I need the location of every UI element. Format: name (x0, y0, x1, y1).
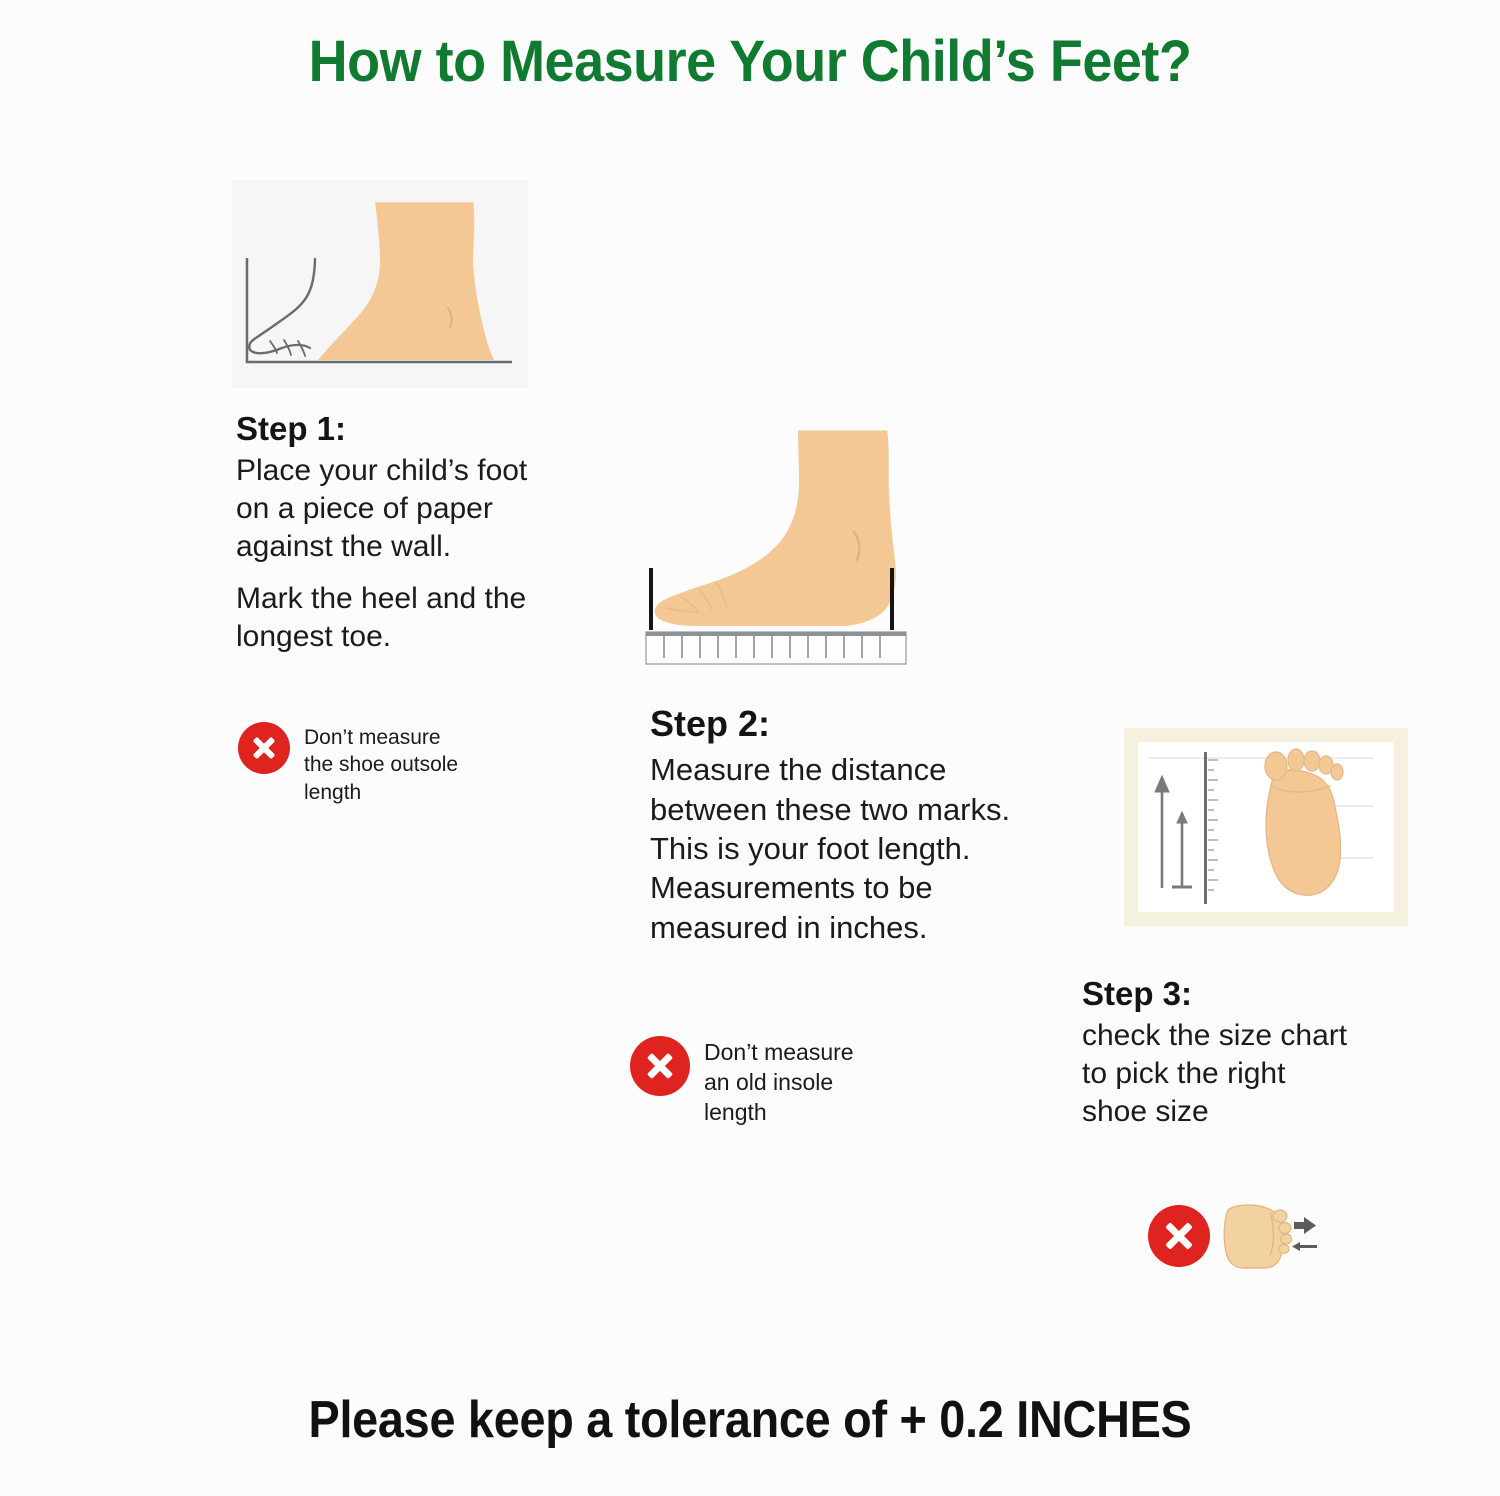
ruler-icon (646, 632, 906, 664)
step3-heading: Step 3: (1082, 975, 1422, 1013)
toe-measurement-mark (649, 568, 653, 630)
step1-heading: Step 1: (236, 410, 566, 448)
step1-body-line: Mark the heel and the (236, 580, 566, 618)
page-title: How to Measure Your Child’s Feet? (53, 28, 1448, 95)
right-arrow-icon (1294, 1217, 1316, 1234)
step1-body-line: against the wall. (236, 528, 566, 566)
step3-body: check the size chart to pick the right s… (1082, 1017, 1422, 1131)
foot-sole-with-arrows-icon (1220, 1200, 1320, 1272)
measurement-guide-page: How to Measure Your Child’s Feet? Step 1… (0, 0, 1500, 1496)
red-x-circle-icon (238, 722, 290, 774)
vertical-ruler-icon (1204, 752, 1207, 904)
step1-body-line: Place your child’s foot (236, 452, 566, 490)
left-arrow-icon (1292, 1242, 1317, 1251)
step2-body-line: Measurements to be (650, 868, 1080, 907)
step2-illustration-foot-with-ruler (640, 420, 930, 668)
step2-warning-text: Don’t measure an old insole length (704, 1036, 854, 1128)
step1-warning-badge: Don’t measure the shoe outsole length (238, 722, 458, 806)
step2-body-line: Measure the distance (650, 750, 1080, 789)
step1-text-block: Step 1: Place your child’s foot on a pie… (236, 410, 566, 656)
step3-warning-badge (1148, 1200, 1320, 1272)
red-x-circle-icon (630, 1036, 690, 1096)
step2-body-line: This is your foot length. (650, 829, 1080, 868)
red-x-circle-icon (1148, 1205, 1210, 1267)
step3-illustration-foot-sole-chart (1124, 728, 1408, 926)
step1-body-line: longest toe. (236, 618, 566, 656)
step3-body-line: shoe size (1082, 1093, 1422, 1131)
step3-body-line: check the size chart (1082, 1017, 1422, 1055)
step2-body-line: measured in inches. (650, 908, 1080, 947)
step2-body-line: between these two marks. (650, 790, 1080, 829)
step2-warning-badge: Don’t measure an old insole length (630, 1036, 854, 1128)
step3-text-block: Step 3: check the size chart to pick the… (1082, 975, 1422, 1131)
step1-body: Place your child’s foot on a piece of pa… (236, 452, 566, 656)
step2-text-block: Step 2: Measure the distance between the… (650, 703, 1080, 947)
step1-illustration-foot-against-wall (232, 180, 528, 388)
step2-body: Measure the distance between these two m… (650, 750, 1080, 947)
step3-body-line: to pick the right (1082, 1055, 1422, 1093)
step2-heading: Step 2: (650, 703, 1080, 744)
heel-measurement-mark (890, 568, 894, 630)
step1-warning-text: Don’t measure the shoe outsole length (304, 722, 458, 806)
step1-body-line: on a piece of paper (236, 490, 566, 528)
tolerance-note: Please keep a tolerance of + 0.2 INCHES (75, 1390, 1425, 1450)
